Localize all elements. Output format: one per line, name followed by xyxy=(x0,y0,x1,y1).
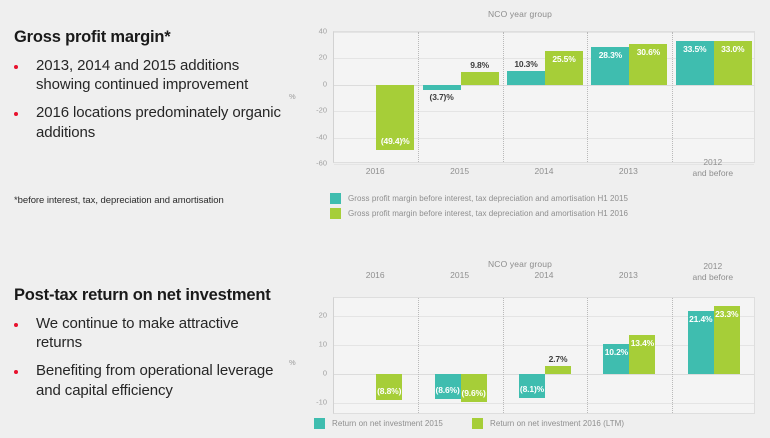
bar-value-label: 33.0% xyxy=(714,44,752,54)
return-bullet-list: We continue to make attractive returns B… xyxy=(0,314,285,400)
y-axis-tick-label: 0 xyxy=(323,369,327,378)
bar-value-label: 28.3% xyxy=(591,50,629,60)
bar-value-label: 30.6% xyxy=(629,47,667,57)
x-axis-tick-label: 2013 xyxy=(619,270,638,281)
legend-item[interactable]: Return on net investment 2015 xyxy=(314,418,443,429)
plot-area: (3.7)%10.3%28.3%33.5%(49.4)%9.8%25.5%30.… xyxy=(333,31,755,163)
x-axis-tick-labels: 20162015201420132012and before xyxy=(333,166,755,192)
bar-value-label: 25.5% xyxy=(545,54,583,64)
bar xyxy=(545,366,571,374)
legend-label: Gross profit margin before interest, tax… xyxy=(348,194,628,203)
bullet-dot-icon xyxy=(14,370,18,374)
legend-label: Return on net investment 2015 xyxy=(332,419,443,428)
gross-profit-margin-chart: NCO year group % 40200-20-40-60 (3.7)%10… xyxy=(285,0,770,225)
return-on-investment-text-block: Post-tax return on net investment We con… xyxy=(0,286,285,409)
bar-value-label: 13.4% xyxy=(629,338,655,348)
y-axis-tick-labels: 20100-10 xyxy=(285,250,327,438)
x-axis-tick-labels-top: 20162015201420132012and before xyxy=(333,270,755,296)
bullet-dot-icon xyxy=(14,323,18,327)
bar-value-label: 23.3% xyxy=(714,309,740,319)
bar-value-label: (9.6%) xyxy=(461,388,487,398)
bar-value-label: (8.8%) xyxy=(376,386,402,396)
gridline xyxy=(334,32,754,33)
category-divider xyxy=(503,32,504,162)
x-axis-tick-label: 2013 xyxy=(619,166,638,177)
legend-item[interactable]: Gross profit margin before interest, tax… xyxy=(330,193,628,204)
chart-title: NCO year group xyxy=(285,9,755,19)
list-item: We continue to make attractive returns xyxy=(0,314,285,352)
slide-canvas: Gross profit margin* 2013, 2014 and 2015… xyxy=(0,0,770,438)
bar xyxy=(461,72,499,85)
y-axis-tick-label: 0 xyxy=(323,79,327,88)
page-title-gross-profit: Gross profit margin* xyxy=(0,28,285,47)
bullet-text: 2013, 2014 and 2015 additions showing co… xyxy=(36,56,285,94)
category-divider xyxy=(672,298,673,413)
legend-swatch xyxy=(330,193,341,204)
bar-value-label: (3.7)% xyxy=(415,92,469,102)
y-axis-tick-label: -20 xyxy=(316,106,327,115)
category-divider xyxy=(587,298,588,413)
list-item: 2016 locations predominately organic add… xyxy=(0,103,285,141)
y-axis-tick-label: 10 xyxy=(319,339,327,348)
category-divider xyxy=(418,298,419,413)
bar-value-label: 9.8% xyxy=(453,60,507,70)
y-axis-tick-label: -60 xyxy=(316,159,327,168)
x-axis-tick-label: 2014 xyxy=(535,270,554,281)
bullet-text: We continue to make attractive returns xyxy=(36,314,285,352)
bar xyxy=(507,71,545,85)
x-axis-tick-label: 2014 xyxy=(535,166,554,177)
legend-item[interactable]: Return on net investment 2016 (LTM) xyxy=(472,418,624,429)
bar-value-label: 21.4% xyxy=(688,314,714,324)
bullet-text: 2016 locations predominately organic add… xyxy=(36,103,285,141)
bar-value-label: 2.7% xyxy=(537,354,579,364)
bar xyxy=(423,85,461,90)
legend-swatch xyxy=(330,208,341,219)
bullet-dot-icon xyxy=(14,65,18,69)
bar-value-label: (8.6%) xyxy=(435,385,461,395)
category-divider xyxy=(503,298,504,413)
y-axis-tick-label: -40 xyxy=(316,132,327,141)
footnote-gross-profit: *before interest, tax, depreciation and … xyxy=(14,195,224,206)
return-on-net-investment-chart: NCO year group % 20162015201420132012and… xyxy=(285,250,770,438)
page-title-return-on-investment: Post-tax return on net investment xyxy=(0,286,285,305)
legend-swatch xyxy=(472,418,483,429)
y-axis-tick-label: 20 xyxy=(319,310,327,319)
y-axis-tick-label: 20 xyxy=(319,53,327,62)
y-axis-tick-label: -10 xyxy=(316,398,327,407)
list-item: Benefiting from operational leverage and… xyxy=(0,361,285,399)
bar-value-label: 33.5% xyxy=(676,44,714,54)
gross-profit-bullet-list: 2013, 2014 and 2015 additions showing co… xyxy=(0,56,285,142)
x-axis-tick-label: 2012and before xyxy=(692,157,733,178)
chart-title: NCO year group xyxy=(285,259,755,269)
category-divider xyxy=(672,32,673,162)
gross-profit-text-block: Gross profit margin* 2013, 2014 and 2015… xyxy=(0,28,285,151)
legend-swatch xyxy=(314,418,325,429)
chart-legend: Gross profit margin before interest, tax… xyxy=(330,193,628,223)
legend-item[interactable]: Gross profit margin before interest, tax… xyxy=(330,208,628,219)
bar-value-label: 10.2% xyxy=(603,347,629,357)
plot-area: (8.6%)(8.1)%10.2%21.4%(8.8%)(9.6%)2.7%13… xyxy=(333,297,755,414)
legend-label: Gross profit margin before interest, tax… xyxy=(348,209,628,218)
x-axis-tick-label: 2015 xyxy=(450,166,469,177)
x-axis-tick-label: 2012and before xyxy=(692,261,733,282)
gridline xyxy=(334,164,754,165)
bullet-text: Benefiting from operational leverage and… xyxy=(36,361,285,399)
bar-value-label: (8.1)% xyxy=(519,384,545,394)
gridline xyxy=(334,403,754,404)
list-item: 2013, 2014 and 2015 additions showing co… xyxy=(0,56,285,94)
bullet-dot-icon xyxy=(14,112,18,116)
category-divider xyxy=(587,32,588,162)
bar-value-label: (49.4)% xyxy=(376,136,414,146)
y-axis-tick-labels: 40200-20-40-60 xyxy=(285,0,327,225)
y-axis-tick-label: 40 xyxy=(319,27,327,36)
x-axis-tick-label: 2016 xyxy=(366,166,385,177)
x-axis-tick-label: 2015 xyxy=(450,270,469,281)
x-axis-tick-label: 2016 xyxy=(366,270,385,281)
legend-label: Return on net investment 2016 (LTM) xyxy=(490,419,624,428)
